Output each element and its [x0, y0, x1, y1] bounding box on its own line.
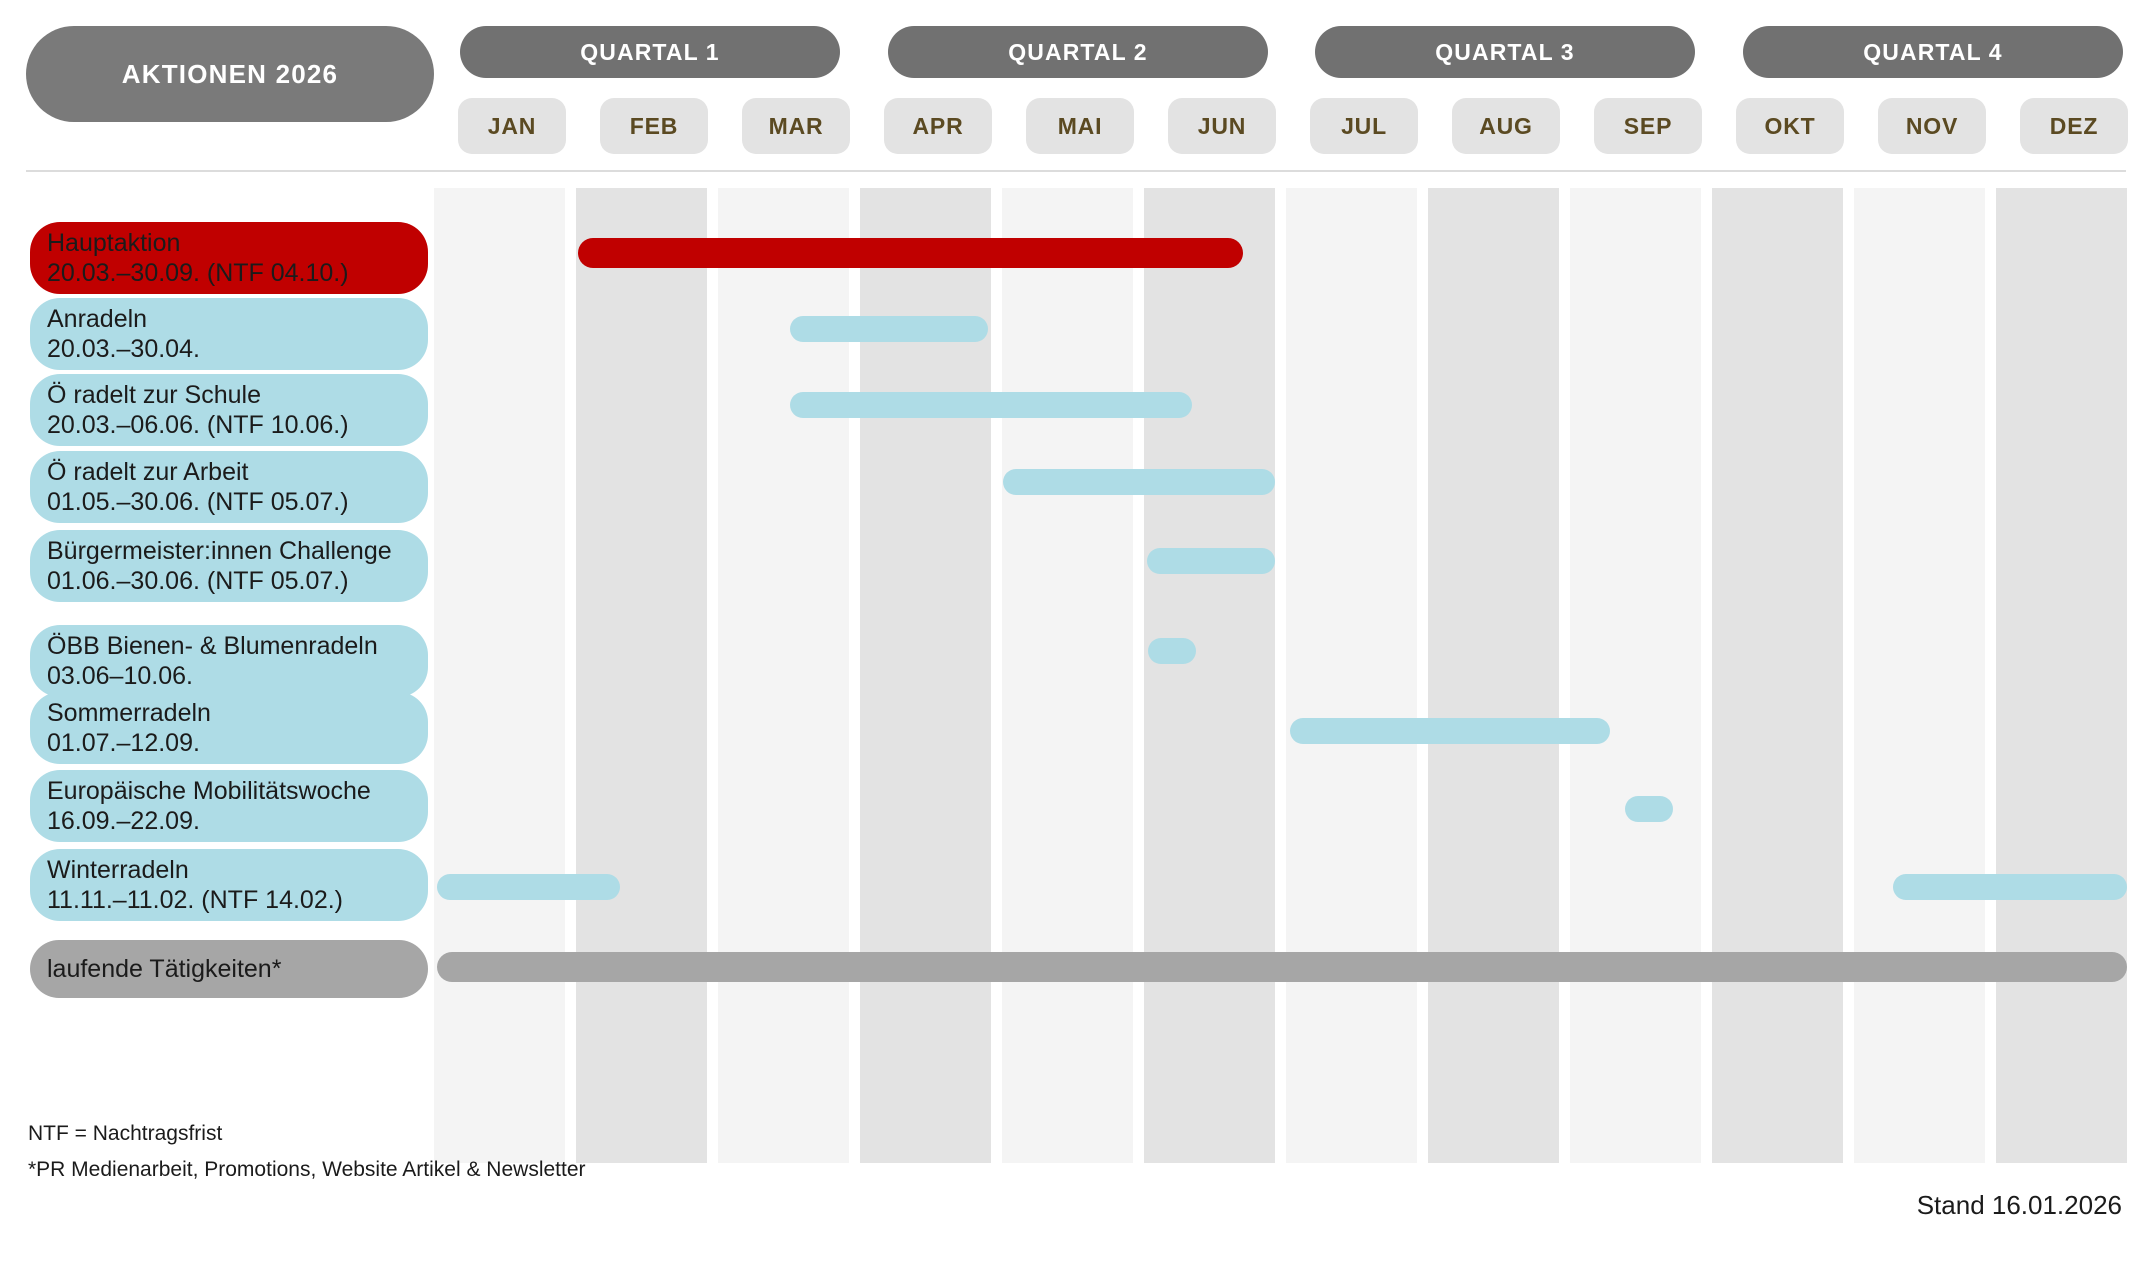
gantt-bar-anradeln[interactable]	[790, 316, 988, 342]
row-daterange: 01.07.–12.09.	[47, 728, 428, 759]
gantt-bar-winterradeln-2[interactable]	[1893, 874, 2127, 900]
row-label-europaische-mobilitatswoche[interactable]: Europäische Mobilitätswoche16.09.–22.09.	[30, 770, 428, 842]
row-daterange: 16.09.–22.09.	[47, 806, 428, 837]
gantt-bar-o-radelt-zur-schule[interactable]	[790, 392, 1192, 418]
row-title: laufende Tätigkeiten*	[47, 954, 428, 985]
row-label-o-radelt-zur-arbeit[interactable]: Ö radelt zur Arbeit01.05.–30.06. (NTF 05…	[30, 451, 428, 523]
row-label-o-radelt-zur-schule[interactable]: Ö radelt zur Schule20.03.–06.06. (NTF 10…	[30, 374, 428, 446]
footnote-ntf: NTF = Nachtragsfrist	[28, 1122, 222, 1146]
gantt-rows: Hauptaktion20.03.–30.09. (NTF 04.10.)Anr…	[0, 0, 2150, 1274]
gantt-bar-burgermeister-innen-challenge[interactable]	[1147, 548, 1275, 574]
gantt-bar-hauptaktion[interactable]	[578, 238, 1243, 268]
row-label-burgermeister-innen-challenge[interactable]: Bürgermeister:innen Challenge01.06.–30.0…	[30, 530, 428, 602]
row-title: Europäische Mobilitätswoche	[47, 776, 428, 807]
row-daterange: 20.03.–06.06. (NTF 10.06.)	[47, 410, 428, 441]
row-label-obb-bienen-blumenradeln[interactable]: ÖBB Bienen- & Blumenradeln03.06–10.06.	[30, 625, 428, 697]
row-title: Anradeln	[47, 304, 428, 335]
row-title: Winterradeln	[47, 855, 428, 886]
gantt-bar-laufende-tatigkeiten[interactable]	[437, 952, 2127, 982]
row-title: Ö radelt zur Schule	[47, 380, 428, 411]
row-label-sommerradeln[interactable]: Sommerradeln01.07.–12.09.	[30, 692, 428, 764]
row-title: Bürgermeister:innen Challenge	[47, 536, 428, 567]
status-date: Stand 16.01.2026	[1917, 1190, 2122, 1221]
row-daterange: 20.03.–30.04.	[47, 334, 428, 365]
row-title: Sommerradeln	[47, 698, 428, 729]
row-daterange: 11.11.–11.02. (NTF 14.02.)	[47, 885, 428, 916]
gantt-bar-o-radelt-zur-arbeit[interactable]	[1003, 469, 1275, 495]
row-daterange: 03.06–10.06.	[47, 661, 428, 692]
row-daterange: 01.06.–30.06. (NTF 05.07.)	[47, 566, 428, 597]
gantt-bar-sommerradeln[interactable]	[1290, 718, 1610, 744]
row-daterange: 01.05.–30.06. (NTF 05.07.)	[47, 487, 428, 518]
row-title: Hauptaktion	[47, 228, 428, 259]
row-label-laufende-tatigkeiten[interactable]: laufende Tätigkeiten*	[30, 940, 428, 998]
footnote-pr: *PR Medienarbeit, Promotions, Website Ar…	[28, 1158, 586, 1182]
gantt-bar-europaische-mobilitatswoche[interactable]	[1625, 796, 1673, 822]
gantt-bar-obb-bienen-blumenradeln[interactable]	[1148, 638, 1196, 664]
row-title: ÖBB Bienen- & Blumenradeln	[47, 631, 428, 662]
gantt-bar-winterradeln-1[interactable]	[437, 874, 620, 900]
row-daterange: 20.03.–30.09. (NTF 04.10.)	[47, 258, 428, 289]
row-label-winterradeln[interactable]: Winterradeln11.11.–11.02. (NTF 14.02.)	[30, 849, 428, 921]
row-label-hauptaktion[interactable]: Hauptaktion20.03.–30.09. (NTF 04.10.)	[30, 222, 428, 294]
row-label-anradeln[interactable]: Anradeln20.03.–30.04.	[30, 298, 428, 370]
row-title: Ö radelt zur Arbeit	[47, 457, 428, 488]
